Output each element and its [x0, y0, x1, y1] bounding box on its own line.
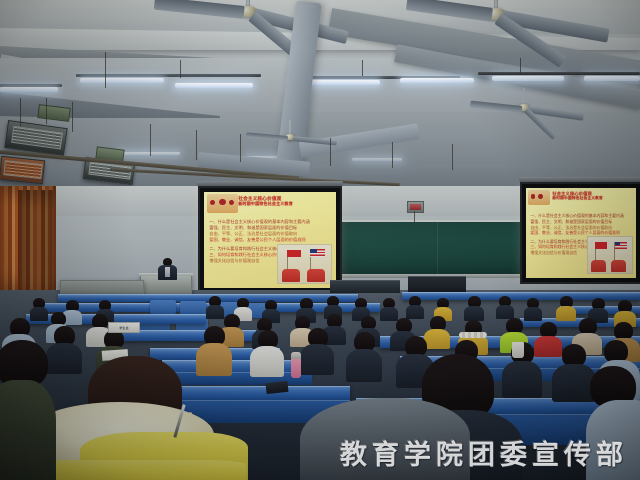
screen-roller [197, 181, 343, 186]
hanger-rod [196, 130, 197, 160]
screen-roller [519, 177, 640, 182]
slide-subtitle-text: 新时期中国特色社会主义教育 [552, 196, 603, 200]
torso [406, 305, 424, 319]
fluorescent-tube-light [584, 76, 640, 81]
slide-image-flags [277, 244, 332, 284]
water-bottle [291, 352, 301, 378]
fluorescent-tube-light [352, 158, 402, 161]
red-podium [591, 260, 606, 272]
slide-content: 社会主义核心价值观 新时期中国特色社会主义教育 一、什么是社会主义核心价值观的基… [204, 192, 336, 288]
student [380, 298, 398, 320]
slide-content: 社会主义核心价值观 新时期中国特色社会主义教育 一、什么是社会主义核心价值观的基… [526, 188, 636, 278]
wall-heater-unit [0, 156, 45, 184]
torso [300, 344, 334, 375]
student [556, 296, 576, 320]
light-fixture-bar [478, 72, 640, 75]
device-wire [414, 211, 415, 223]
fluorescent-tube-light [0, 87, 58, 92]
scarf [459, 332, 487, 338]
student [464, 296, 484, 320]
china-flag-icon [595, 242, 606, 248]
student-foreground [0, 340, 56, 480]
front-dais-table [330, 280, 400, 293]
hanger-rod [240, 134, 241, 162]
slide-subtitle-text: 新时期中国特色社会主义教育 [238, 201, 293, 206]
student-foreground [300, 398, 470, 480]
ceiling [0, 0, 640, 196]
slide-line: 一、什么是社会主义核心价值观的基本内容和主要内涵 [530, 213, 631, 219]
hanger-rod [46, 98, 47, 124]
left-projection-screen[interactable]: 社会主义核心价值观 新时期中国特色社会主义教育 一、什么是社会主义核心价值观的基… [198, 186, 342, 294]
usa-flag-icon [310, 249, 325, 256]
student [496, 296, 514, 318]
ceiling-wire [105, 52, 106, 88]
hanger-rod [452, 144, 453, 170]
slide-title-text: 社会主义核心价值观 [552, 191, 592, 196]
slide-dot [229, 200, 235, 205]
red-podium [611, 260, 626, 272]
hood [300, 398, 470, 480]
student [406, 296, 424, 318]
slide-title: 社会主义核心价值观 新时期中国特色社会主义教育 [552, 192, 631, 202]
mobile-phone [265, 381, 288, 394]
bottle-cap [291, 352, 301, 359]
fluorescent-tube-light [400, 78, 474, 83]
student-bench [150, 300, 176, 314]
fan-rod [289, 120, 291, 135]
ceiling-fan [496, 0, 497, 1]
hanger-rod [330, 138, 331, 166]
student-bench [180, 301, 206, 315]
fluorescent-tube-light [492, 76, 564, 81]
hanger-rod [392, 142, 393, 168]
torso [250, 346, 284, 377]
hanger-rod [72, 102, 73, 132]
red-podium [282, 269, 300, 282]
slide-dot [531, 194, 535, 199]
torso [0, 380, 56, 480]
slide-decoration [528, 190, 550, 205]
name-plate-label: 学生会 [119, 326, 129, 330]
front-dais-table [408, 276, 466, 293]
student [346, 332, 382, 380]
ceiling-fan [248, 0, 249, 1]
wall-mounted-clock [407, 201, 424, 213]
lecture-hall-photo: 社会主义核心价值观 新时期中国特色社会主义教育 一、什么是社会主义核心价值观的基… [0, 0, 640, 480]
student [300, 328, 334, 374]
ceiling-wire [520, 58, 521, 74]
china-flag-icon [287, 250, 301, 257]
fluorescent-tube-light [80, 78, 164, 83]
light-fixture-bar [76, 74, 261, 77]
slide-line: 爱国、敬业、诚信、友善是公民个人层面的价值准则 [209, 237, 330, 243]
slide-title: 社会主义核心价值观 新时期中国特色社会主义教育 [238, 196, 333, 207]
lecturer-shirt [165, 267, 170, 277]
clock-display [410, 204, 421, 210]
fluorescent-tube-light [175, 83, 253, 88]
student [524, 298, 542, 320]
torso [346, 349, 382, 382]
heater-grill [4, 160, 43, 179]
slide-decoration [207, 194, 239, 213]
slide-dot [219, 199, 225, 205]
hanger-rod [150, 124, 151, 156]
heater-grill [11, 125, 64, 149]
slide-line: 爱国、敬业、诚信、友善是公民个人层面的价值准则 [530, 230, 631, 236]
name-plate: 学生会 [108, 322, 140, 333]
fluorescent-tube-light [118, 152, 180, 155]
student-foreground [586, 366, 640, 480]
ceiling-wire [180, 60, 181, 78]
ceiling-fan [290, 134, 291, 135]
hanger-rod [20, 98, 21, 126]
slide-dot [210, 200, 216, 205]
ceiling-fan [524, 104, 525, 105]
slide-dot [538, 194, 542, 199]
student [250, 330, 284, 376]
slide-image-flags [587, 236, 633, 274]
blackboard [332, 220, 542, 278]
torso [496, 305, 514, 319]
usa-flag-icon [615, 242, 627, 249]
lecturer [157, 258, 177, 280]
right-projection-screen[interactable]: 社会主义核心价值观 新时期中国特色社会主义教育 一、什么是社会主义核心价值观的基… [520, 182, 640, 284]
wall-bracket [37, 104, 70, 122]
ceiling-wire [362, 60, 363, 76]
torso [464, 306, 484, 321]
torso [586, 400, 640, 480]
red-podium [307, 269, 325, 282]
